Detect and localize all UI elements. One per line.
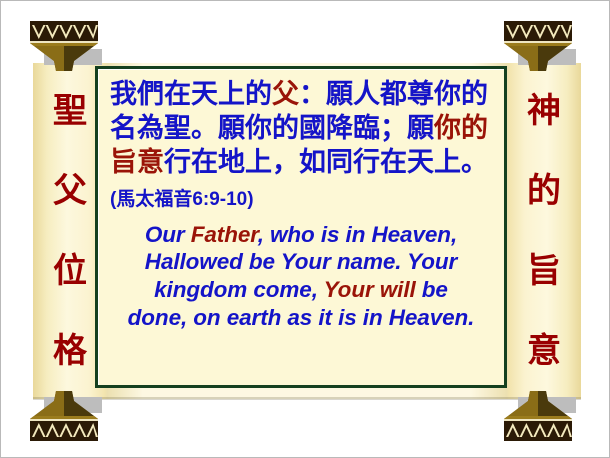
english-line3-part1: kingdom come, xyxy=(154,277,323,302)
right-vertical-title: 神 的 旨 意 xyxy=(508,71,580,391)
left-title-char-4: 格 xyxy=(53,334,87,368)
english-line-4: done, on earth as it is in Heaven. xyxy=(106,304,496,332)
english-line1-highlight: Father xyxy=(191,222,258,247)
right-title-char-2: 的 xyxy=(527,174,561,208)
scroll-finial-top-left-icon xyxy=(28,19,102,71)
english-scripture-text: Our Father, who is in Heaven, Hallowed b… xyxy=(106,221,496,332)
english-line-2: Hallowed be Your name. Your xyxy=(106,248,496,276)
chinese-line1-part1: 我們在天上的 xyxy=(110,79,272,109)
chinese-line4: 同行在天上。 xyxy=(326,147,488,177)
english-line3-highlight: Your will xyxy=(324,277,416,302)
scripture-reference: (馬太福音6:9-10) xyxy=(110,189,254,210)
scroll-finial-top-right-icon xyxy=(502,19,576,71)
english-line1-part2: , who is in Heaven, xyxy=(258,222,457,247)
scroll-paper-bottom-shadow xyxy=(33,397,581,400)
left-title-char-3: 位 xyxy=(53,254,87,288)
right-title-char-4: 意 xyxy=(527,334,561,368)
right-title-char-1: 神 xyxy=(527,94,561,128)
chinese-scripture-text: 我們在天上的父：願人都尊你的名為聖。願你的國降臨；願你的旨意行在地上，如同行在天… xyxy=(106,75,496,214)
chinese-line1-part2: ：願人都尊 xyxy=(299,79,434,109)
english-line1-part1: Our xyxy=(145,222,191,247)
scroll-finial-bottom-right-icon xyxy=(502,391,576,443)
chinese-line3-part2: 行在地上，如 xyxy=(164,147,326,177)
scroll-finial-bottom-left-icon xyxy=(28,391,102,443)
english-line-1: Our Father, who is in Heaven, xyxy=(106,221,496,249)
left-title-char-1: 聖 xyxy=(53,94,87,128)
left-title-char-2: 父 xyxy=(53,174,87,208)
english-line-3: kingdom come, Your will be xyxy=(106,276,496,304)
slide-canvas: 聖 父 位 格 神 的 旨 意 我們在天上的父：願人都尊你的名為聖。願你的國降臨… xyxy=(0,0,610,458)
scripture-panel: 我們在天上的父：願人都尊你的名為聖。願你的國降臨；願你的旨意行在地上，如同行在天… xyxy=(95,66,507,388)
english-line3-part2: be xyxy=(416,277,448,302)
chinese-line3-part1: ；願 xyxy=(380,113,434,143)
right-title-char-3: 旨 xyxy=(527,254,561,288)
chinese-line1-highlight: 父 xyxy=(272,79,299,109)
